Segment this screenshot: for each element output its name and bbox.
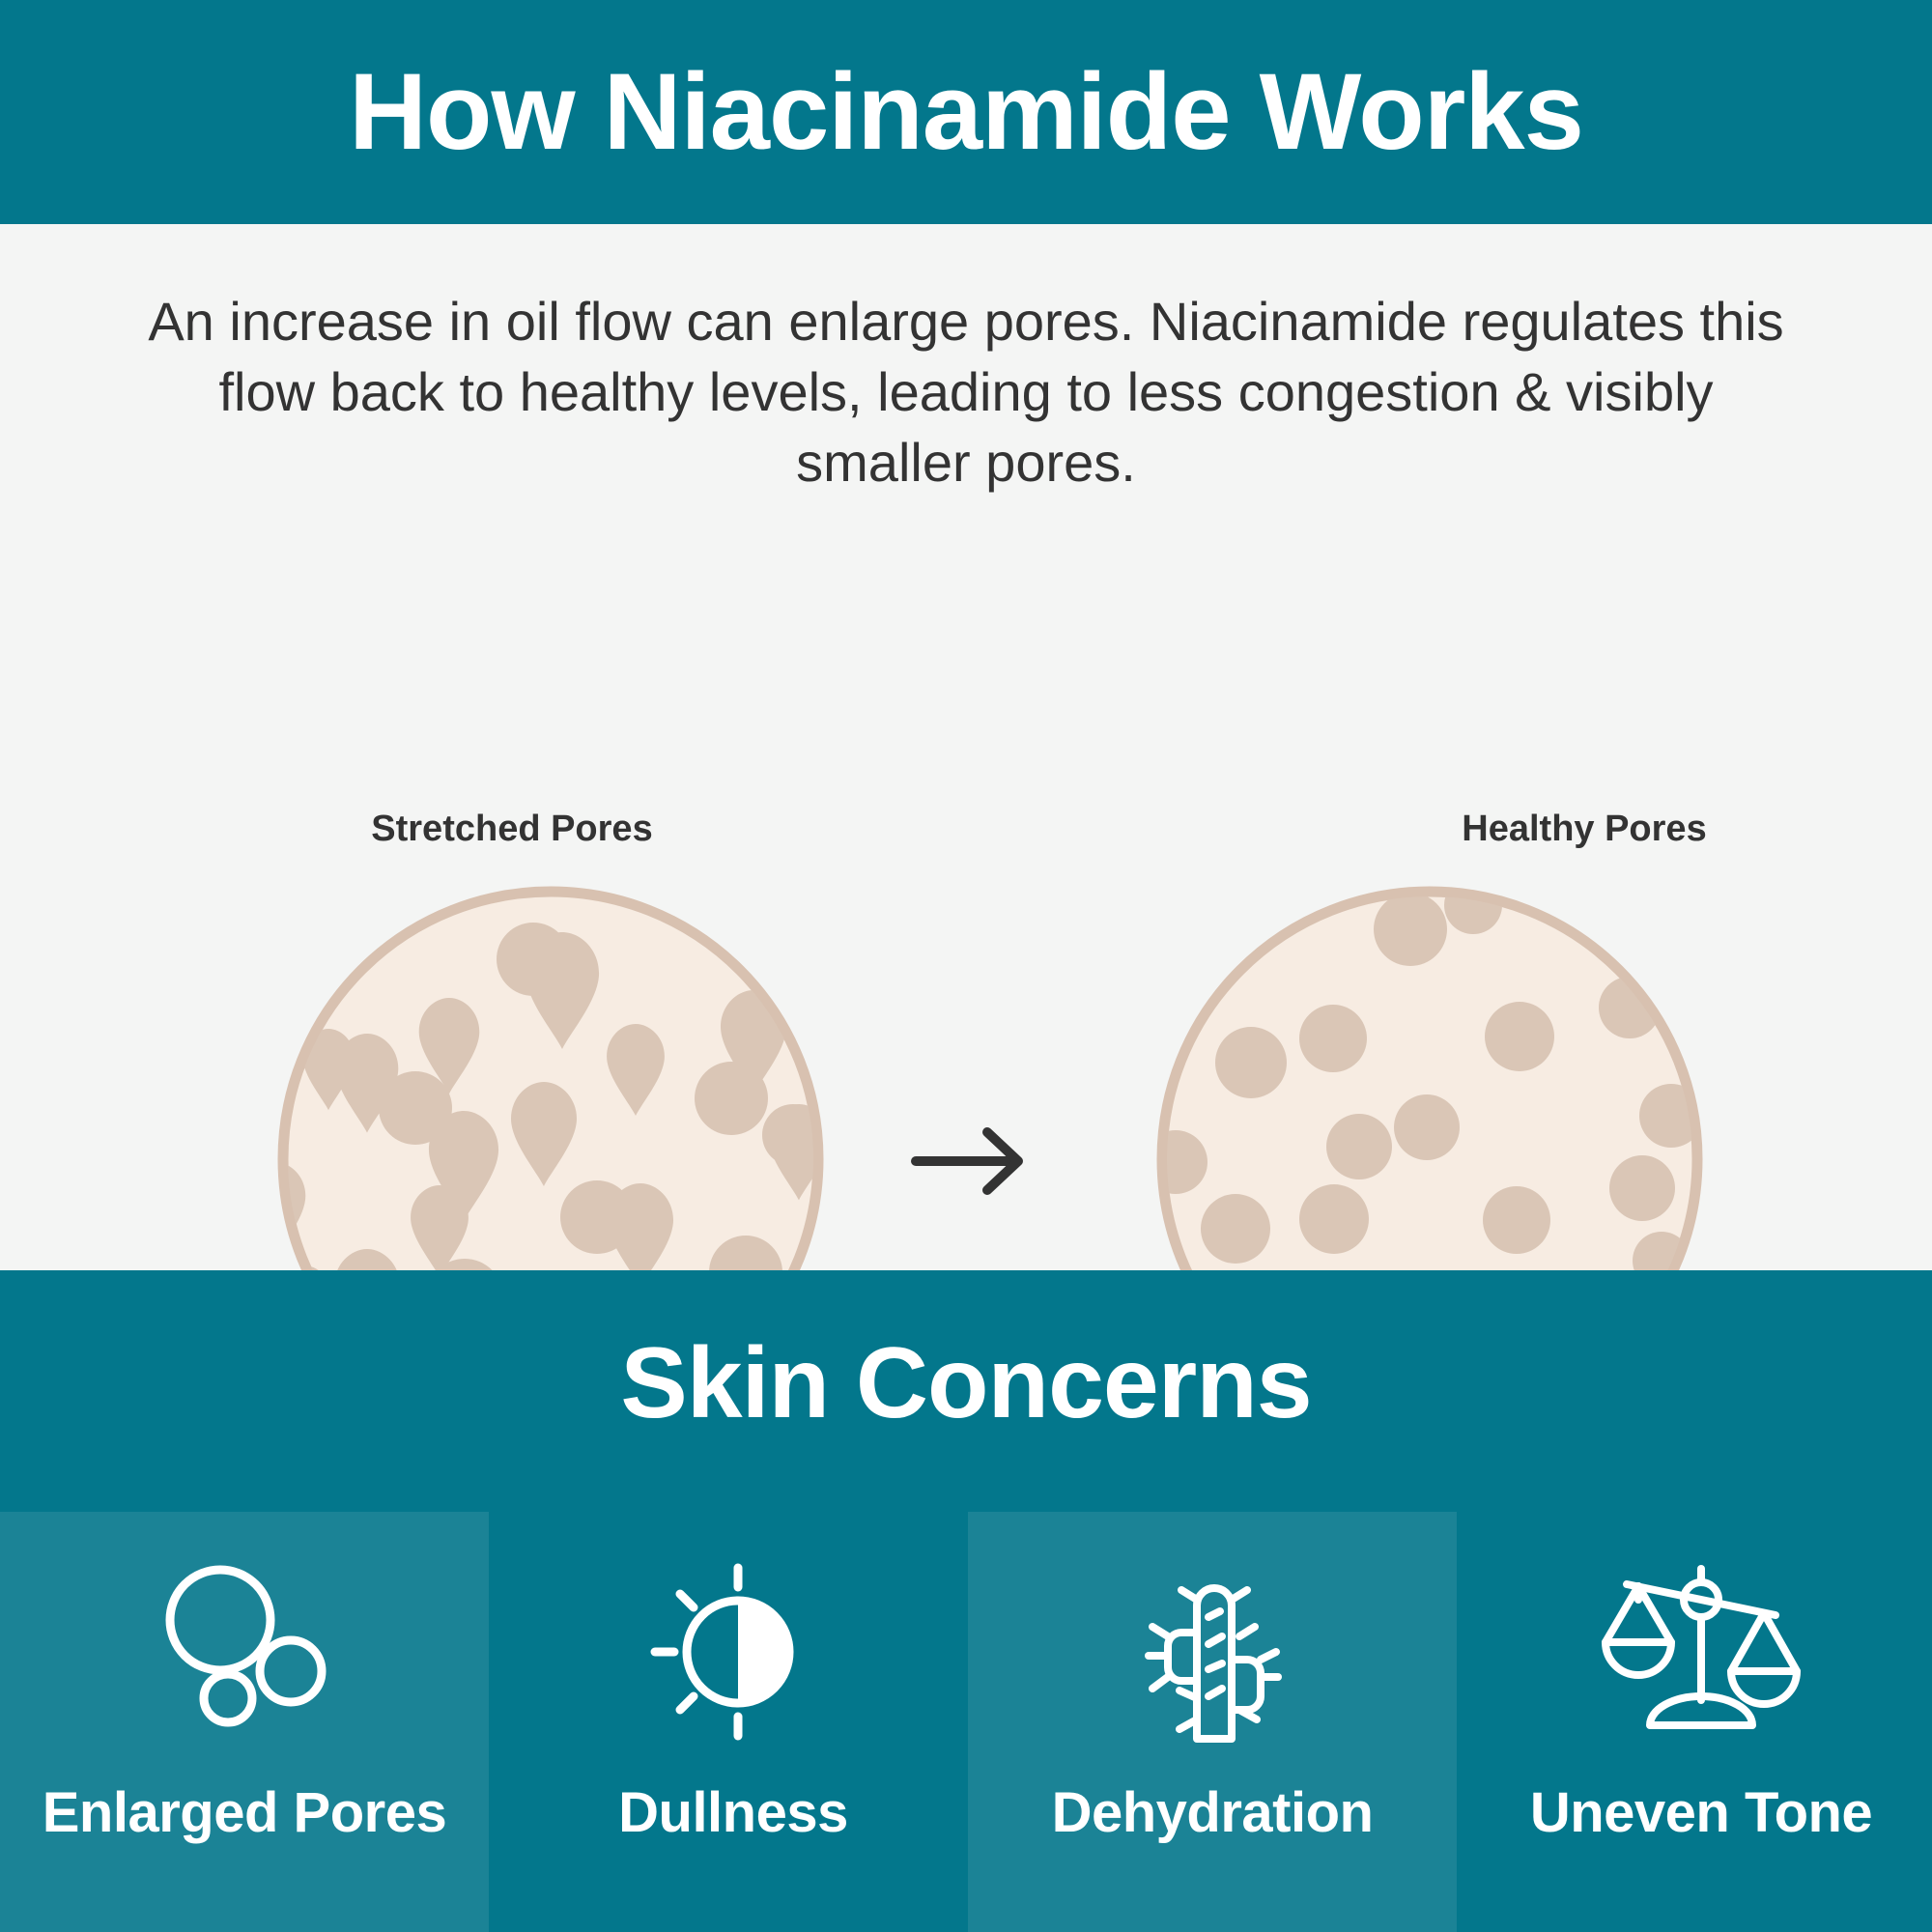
concern-label-uneven-tone: Uneven Tone bbox=[1457, 1780, 1932, 1845]
concern-tile-uneven-tone[interactable]: Uneven Tone bbox=[1457, 1512, 1932, 1932]
concern-tile-enlarged-pores[interactable]: Enlarged Pores bbox=[0, 1512, 489, 1932]
skin-concerns-section: Skin Concerns Enlarged Pores bbox=[0, 1270, 1932, 1932]
balance-scale-icon bbox=[1457, 1541, 1932, 1763]
concern-label-dullness: Dullness bbox=[489, 1780, 978, 1845]
page-header: How Niacinamide Works bbox=[0, 0, 1932, 224]
concern-label-enlarged-pores: Enlarged Pores bbox=[0, 1780, 489, 1845]
cactus-icon bbox=[968, 1541, 1457, 1763]
arrow-right-icon bbox=[908, 1122, 1034, 1205]
page-title: How Niacinamide Works bbox=[349, 58, 1583, 166]
concern-tile-dullness[interactable]: Dullness bbox=[489, 1512, 978, 1932]
pores-circles-icon bbox=[0, 1541, 489, 1763]
concern-label-dehydration: Dehydration bbox=[968, 1780, 1457, 1845]
healthy-pores-label: Healthy Pores bbox=[1063, 809, 1932, 850]
skin-concerns-title: Skin Concerns bbox=[0, 1333, 1932, 1434]
intro-paragraph: An increase in oil flow can enlarge pore… bbox=[145, 287, 1787, 497]
stretched-pores-label: Stretched Pores bbox=[280, 809, 744, 850]
mechanism-section: An increase in oil flow can enlarge pore… bbox=[0, 224, 1932, 1270]
concern-tile-dehydration[interactable]: Dehydration bbox=[968, 1512, 1457, 1932]
half-sun-icon bbox=[489, 1541, 978, 1763]
